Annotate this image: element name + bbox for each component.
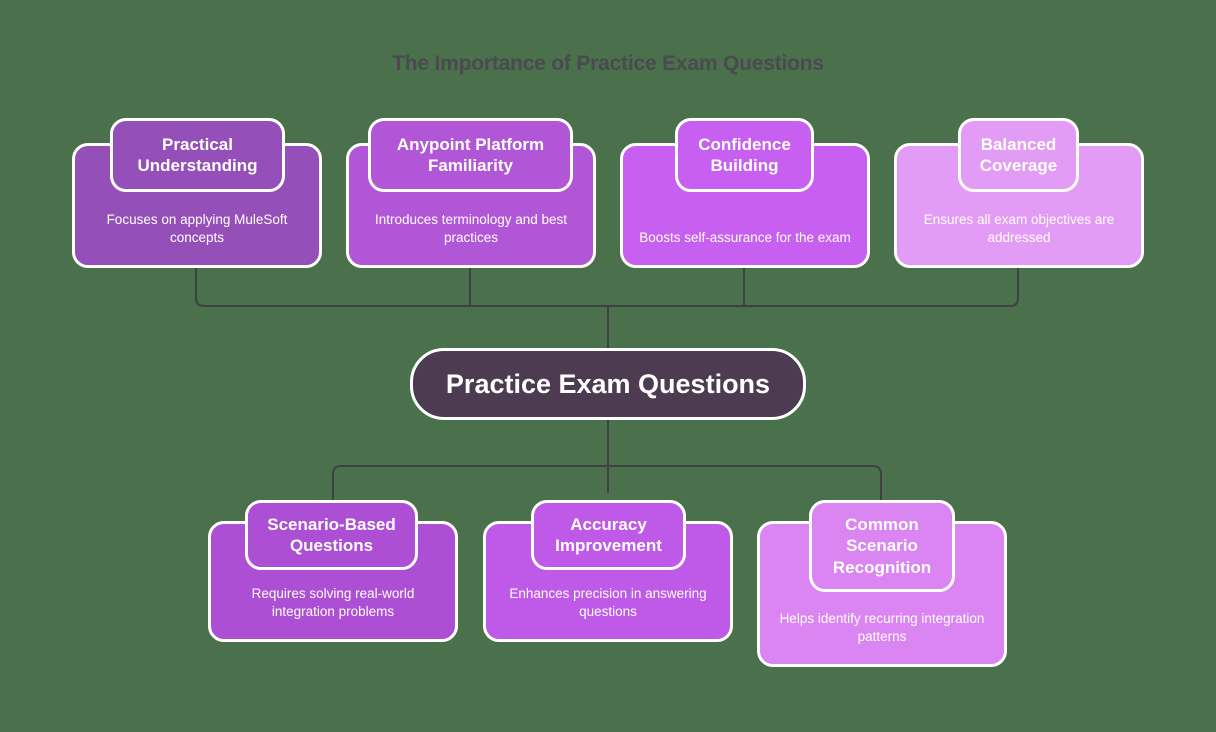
bottom-card-description-3: Helps identify recurring integration pat… bbox=[760, 610, 1004, 664]
page-title: The Importance of Practice Exam Question… bbox=[0, 52, 1216, 76]
bottom-card-header-scenario-based-questions[interactable]: Scenario-Based Questions bbox=[245, 500, 418, 570]
central-node-practice-exam-questions[interactable]: Practice Exam Questions bbox=[410, 348, 806, 420]
bottom-card-header-accuracy-improvement[interactable]: Accuracy Improvement bbox=[531, 500, 686, 570]
top-card-header-anypoint-platform-familiarity[interactable]: Anypoint Platform Familiarity bbox=[368, 118, 573, 192]
bottom-bus-line bbox=[333, 466, 881, 500]
top-card-description-4: Ensures all exam objectives are addresse… bbox=[897, 211, 1141, 265]
top-card-description-2: Introduces terminology and best practice… bbox=[349, 211, 593, 265]
bottom-card-description-2: Enhances precision in answering question… bbox=[486, 585, 730, 639]
top-card-header-confidence-building[interactable]: Confidence Building bbox=[675, 118, 814, 192]
top-card-header-practical-understanding[interactable]: Practical Understanding bbox=[110, 118, 285, 192]
top-card-description-1: Focuses on applying MuleSoft concepts bbox=[75, 211, 319, 265]
bottom-card-description-1: Requires solving real-world integration … bbox=[211, 585, 455, 639]
top-card-description-3: Boosts self-assurance for the exam bbox=[623, 229, 867, 265]
bottom-card-header-common-scenario-recognition[interactable]: Common Scenario Recognition bbox=[809, 500, 955, 592]
top-bus-line bbox=[196, 268, 1018, 306]
diagram-canvas: The Importance of Practice Exam Question… bbox=[0, 0, 1216, 732]
top-card-header-balanced-coverage[interactable]: Balanced Coverage bbox=[958, 118, 1079, 192]
